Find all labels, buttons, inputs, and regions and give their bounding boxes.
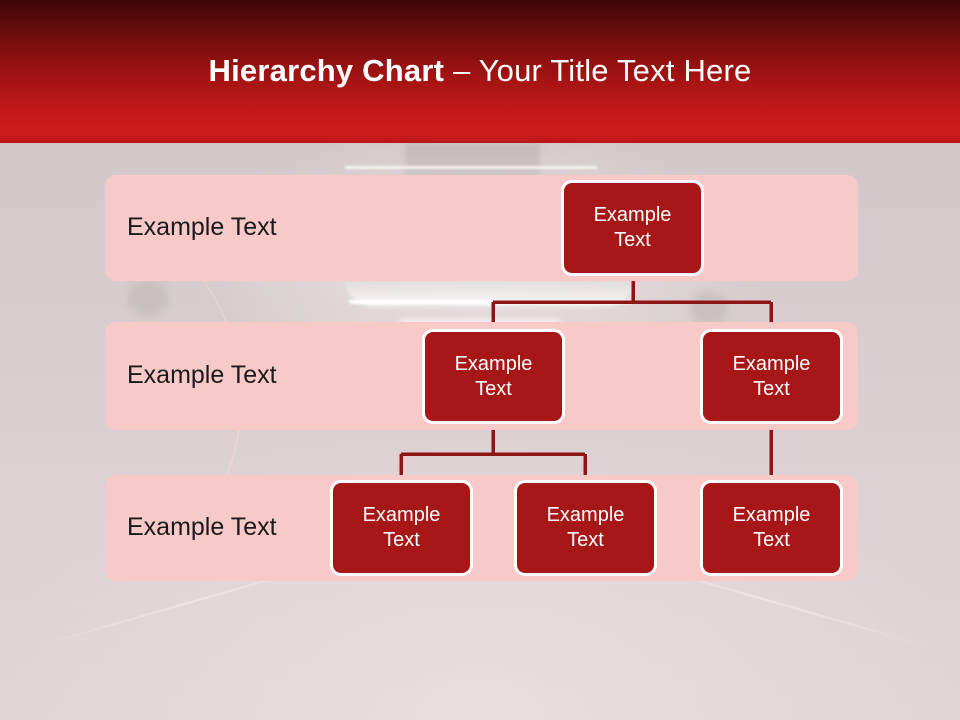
- node-level1-1-line2: Text: [614, 229, 651, 251]
- node-level3-2-line2: Text: [567, 529, 604, 551]
- node-level3-3[interactable]: Example Text: [700, 480, 843, 576]
- node-level1-1-label: Example Text: [588, 203, 678, 253]
- slide: Hierarchy Chart – Your Title Text Here E…: [0, 0, 960, 720]
- node-level1-1[interactable]: Example Text: [561, 180, 704, 276]
- background-highlight-line: [345, 166, 597, 169]
- node-level2-1-line1: Example: [455, 353, 533, 375]
- node-level2-2-label: Example Text: [727, 352, 817, 402]
- node-level2-1-label: Example Text: [449, 352, 539, 402]
- node-level3-1-label: Example Text: [357, 503, 447, 553]
- node-level2-1[interactable]: Example Text: [422, 329, 565, 424]
- level-band-1: Example Text: [105, 175, 858, 281]
- node-level2-2-line2: Text: [753, 378, 790, 400]
- level-band-1-label: Example Text: [127, 213, 277, 241]
- level-band-2-label: Example Text: [127, 361, 277, 389]
- page-title: Hierarchy Chart – Your Title Text Here: [0, 52, 960, 90]
- node-level2-1-line2: Text: [475, 378, 512, 400]
- background-chair-shape-left: [128, 280, 168, 316]
- node-level3-2[interactable]: Example Text: [514, 480, 657, 576]
- node-level1-1-line1: Example: [594, 204, 672, 226]
- background-desk-edge: [348, 300, 633, 304]
- node-level3-3-label: Example Text: [727, 503, 817, 553]
- node-level3-1[interactable]: Example Text: [330, 480, 473, 576]
- node-level3-1-line2: Text: [383, 529, 420, 551]
- node-level3-1-line1: Example: [363, 504, 441, 526]
- node-level2-2-line1: Example: [733, 353, 811, 375]
- node-level3-2-line1: Example: [547, 504, 625, 526]
- page-title-strong: Hierarchy Chart: [209, 53, 453, 88]
- node-level2-2[interactable]: Example Text: [700, 329, 843, 424]
- level-band-3-label: Example Text: [127, 513, 277, 541]
- node-level3-3-line1: Example: [733, 504, 811, 526]
- background-chair-shape-right: [690, 292, 728, 326]
- page-title-rest: – Your Title Text Here: [453, 53, 752, 88]
- node-level3-3-line2: Text: [753, 529, 790, 551]
- title-bar: Hierarchy Chart – Your Title Text Here: [0, 0, 960, 143]
- node-level3-2-label: Example Text: [541, 503, 631, 553]
